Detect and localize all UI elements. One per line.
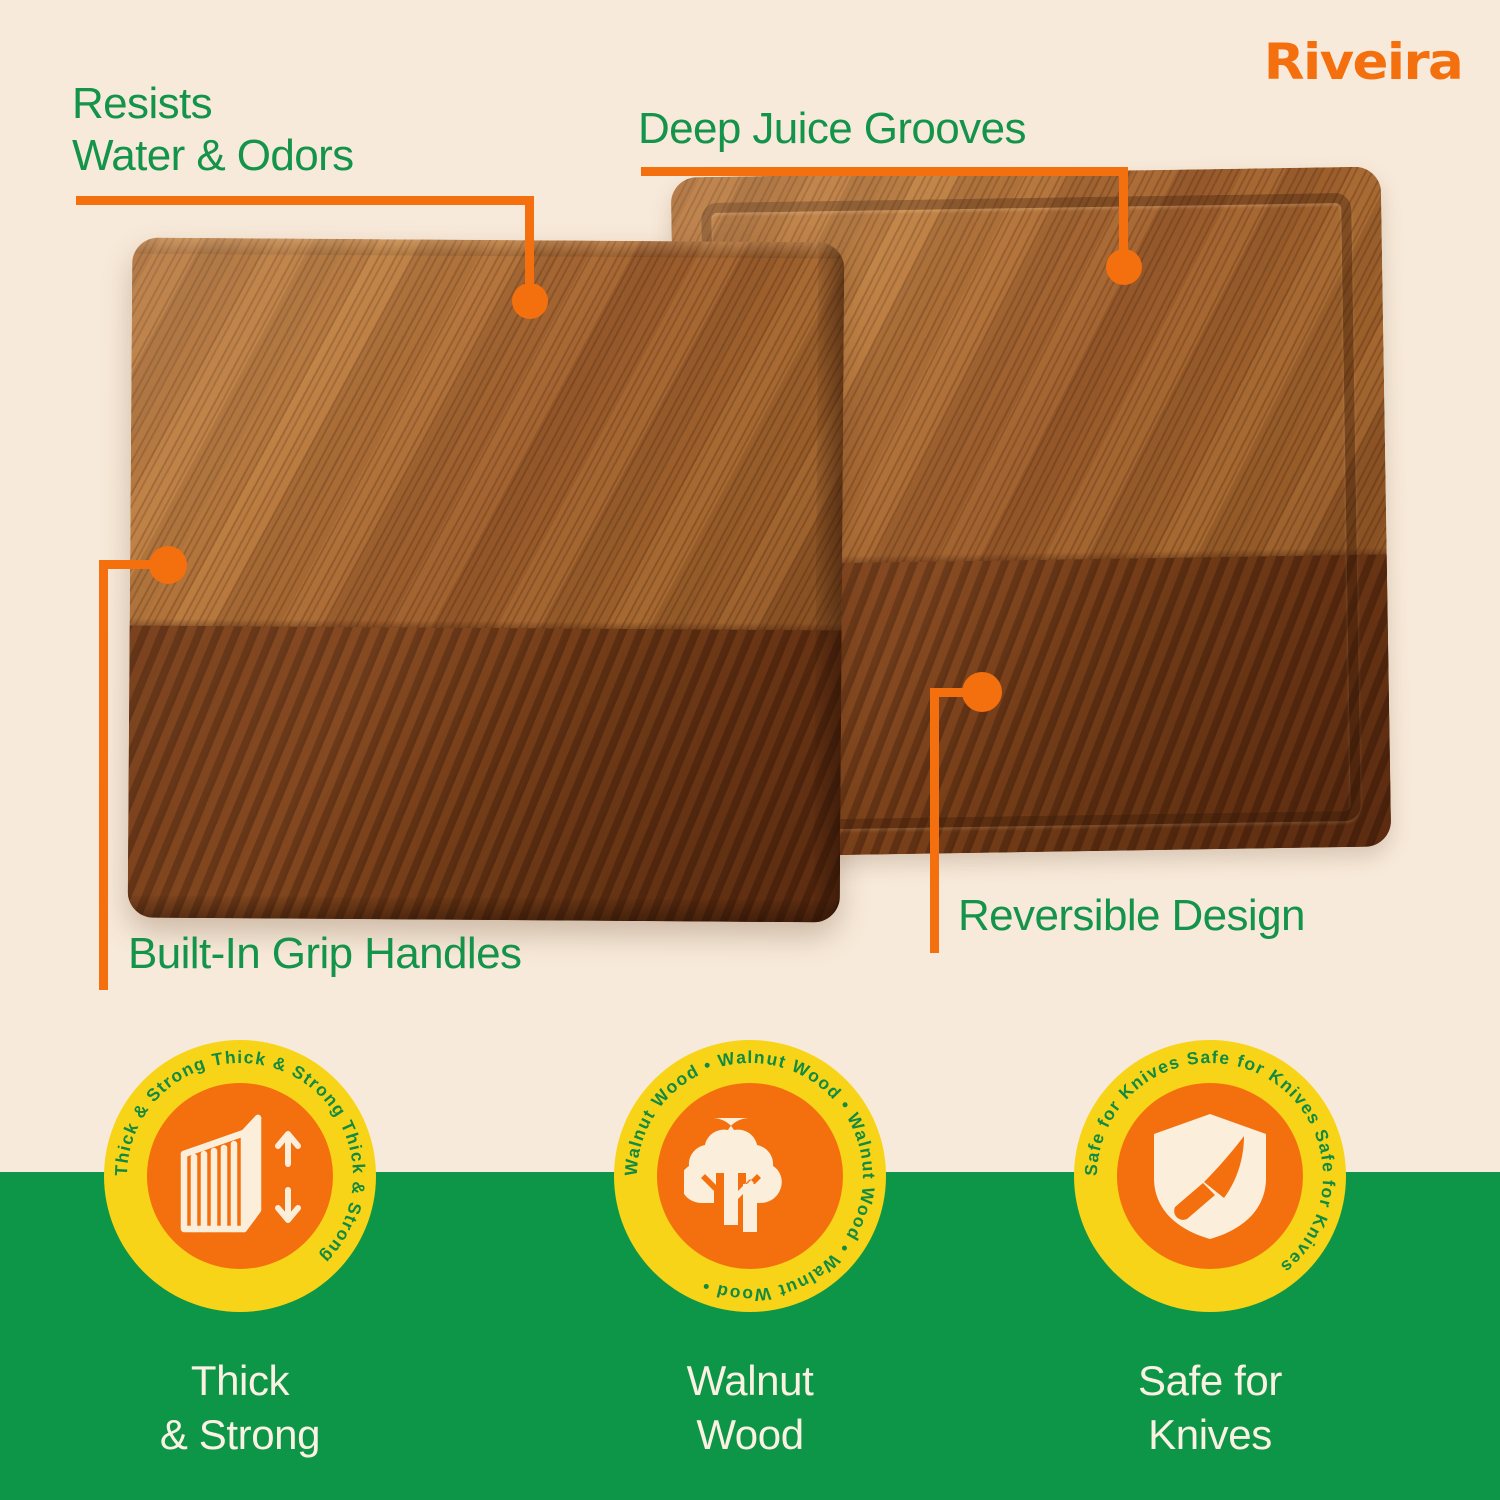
- connector-line-resists-water-vertical: [525, 196, 534, 296]
- badge-walnut-wood-medallion: Walnut Wood • Walnut Wood • Walnut Wood …: [614, 1040, 886, 1312]
- badge-thick-strong-medallion: Thick & Strong Thick & Strong Thick & St…: [104, 1040, 376, 1312]
- shield-knife-icon: [1117, 1083, 1303, 1269]
- badge-walnut-wood: Walnut Wood • Walnut Wood • Walnut Wood …: [600, 1040, 900, 1462]
- connector-dot-juice-grooves: [1106, 249, 1142, 285]
- feature-badges: Thick & Strong Thick & Strong Thick & St…: [0, 1040, 1500, 1340]
- connector-line-grip-handles-vertical: [99, 560, 108, 990]
- connector-dot-grip-handles: [149, 546, 187, 584]
- connector-line-reversible-vertical: [930, 688, 939, 953]
- callout-label-resists-water-odors: Resists Water & Odors: [72, 78, 354, 182]
- callout-label-reversible-design: Reversible Design: [958, 890, 1305, 942]
- tree-icon: [657, 1083, 843, 1269]
- callout-label-deep-juice-grooves: Deep Juice Grooves: [638, 103, 1026, 155]
- connector-line-juice-grooves-horizontal: [641, 167, 1128, 176]
- callout-label-built-in-grip-handles: Built-In Grip Handles: [128, 928, 521, 980]
- badge-thick-strong-caption: Thick & Strong: [90, 1354, 390, 1462]
- board-thickness-icon: [147, 1083, 333, 1269]
- connector-line-juice-grooves-vertical: [1119, 167, 1128, 262]
- badge-safe-for-knives: Safe for Knives Safe for Knives Safe for…: [1060, 1040, 1360, 1462]
- badge-safe-for-knives-caption: Safe for Knives: [1060, 1354, 1360, 1462]
- front-board-sheen: [128, 238, 845, 923]
- badge-safe-for-knives-medallion: Safe for Knives Safe for Knives Safe for…: [1074, 1040, 1346, 1312]
- badge-walnut-wood-caption: Walnut Wood: [600, 1354, 900, 1462]
- front-board: [128, 238, 845, 923]
- badge-thick-strong: Thick & Strong Thick & Strong Thick & St…: [90, 1040, 390, 1462]
- connector-dot-resists-water: [512, 283, 548, 319]
- connector-line-resists-water-horizontal: [76, 196, 534, 205]
- connector-dot-reversible: [962, 672, 1002, 712]
- brand-logo: Riveira: [1264, 33, 1462, 91]
